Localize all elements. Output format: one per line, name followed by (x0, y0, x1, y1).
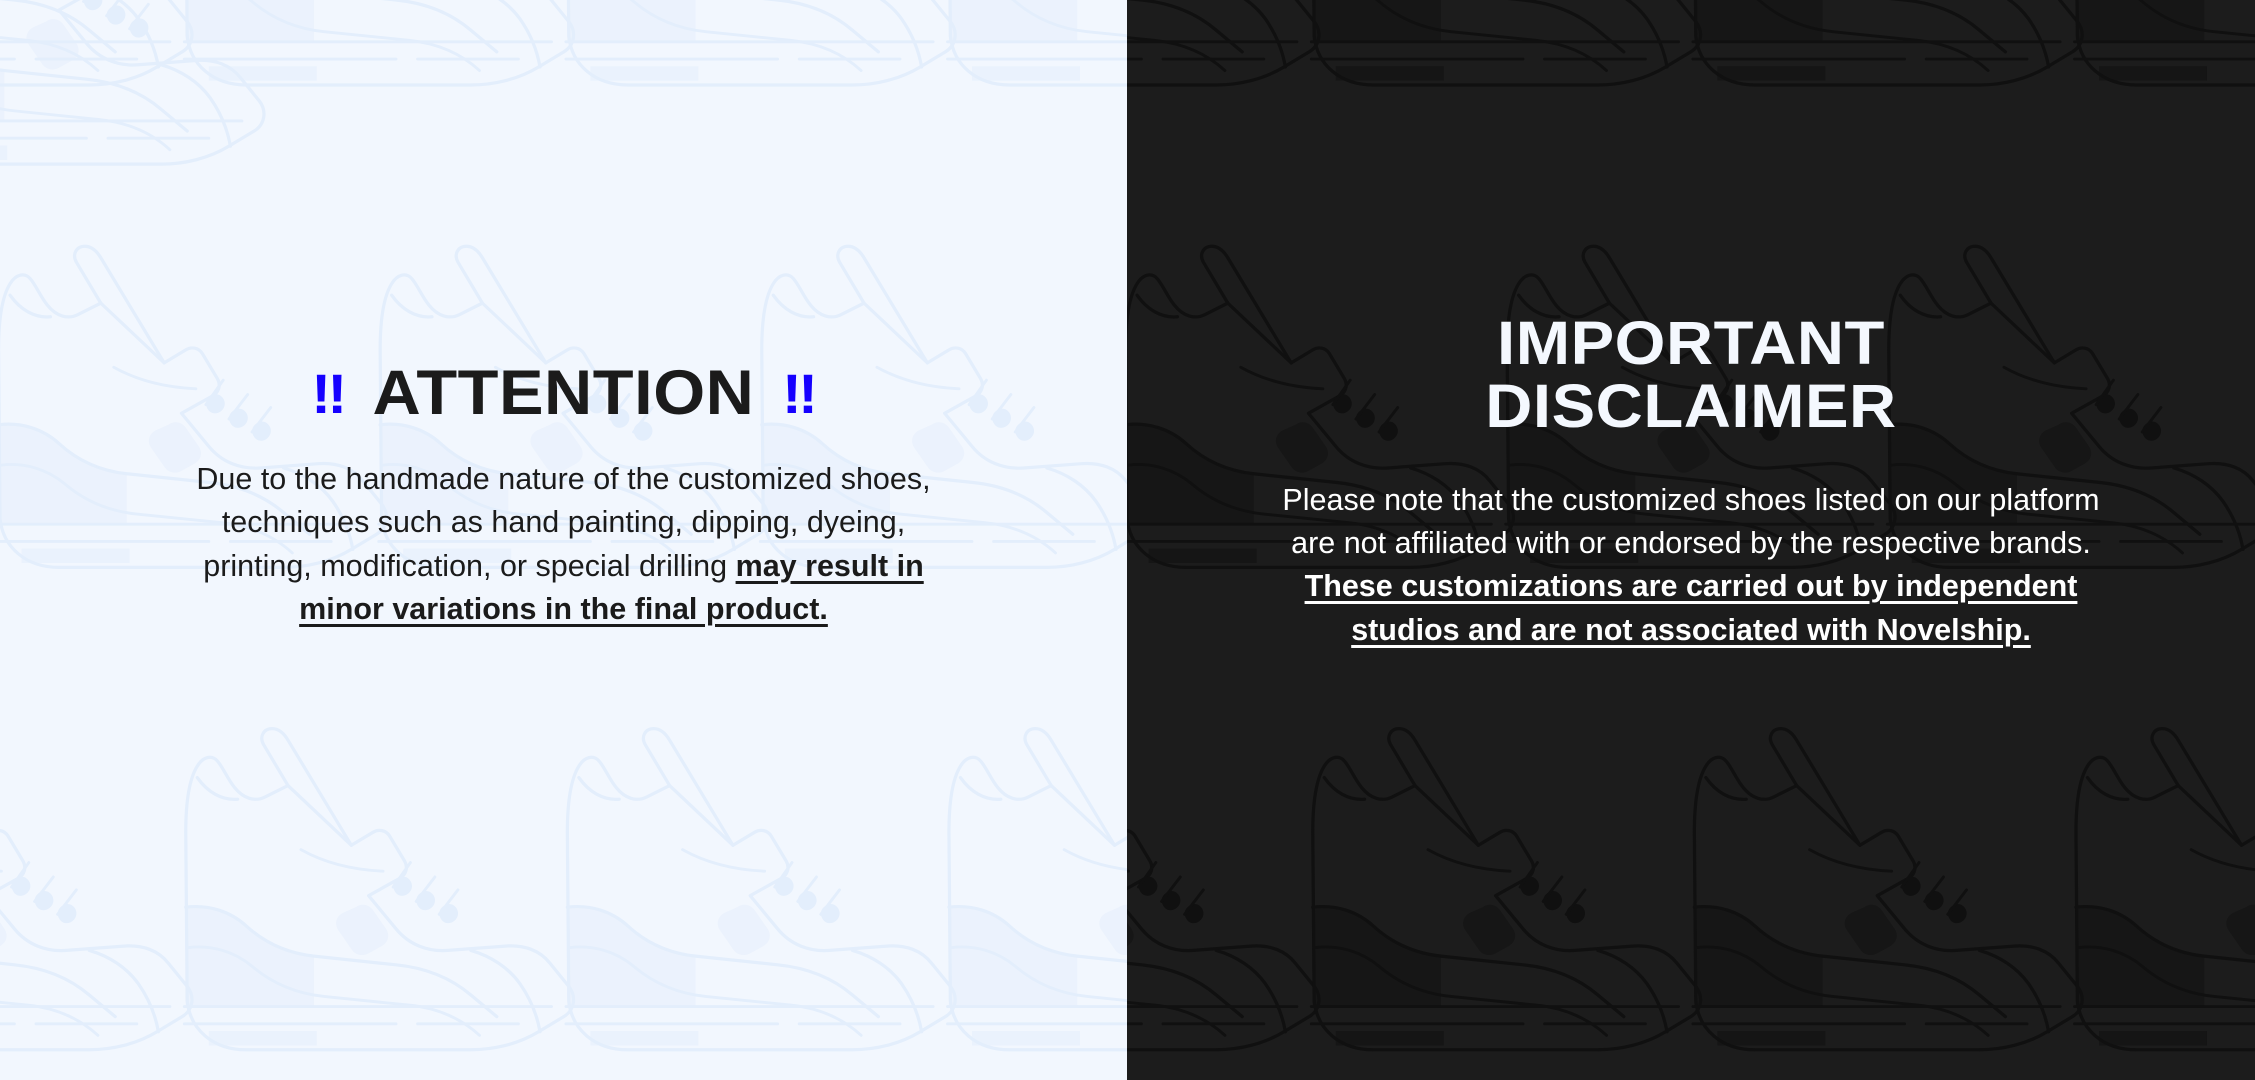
double-exclamation-right-icon: ‼ (782, 366, 816, 422)
disclaimer-headline-line-2: DISCLAIMER (1127, 375, 2255, 438)
disclaimer-body: Please note that the customized shoes li… (1281, 479, 2101, 652)
disclaimer-body-emphasis: These customizations are carried out by … (1305, 569, 2078, 646)
disclaimer-body-normal: Please note that the customized shoes li… (1282, 483, 2099, 560)
disclaimer-panel: IMPORTANT DISCLAIMER Please note that th… (1127, 0, 2255, 1080)
disclaimer-content: IMPORTANT DISCLAIMER Please note that th… (1127, 0, 2255, 652)
attention-body: Due to the handmade nature of the custom… (179, 458, 949, 631)
attention-headline-text: ATTENTION (373, 362, 755, 425)
disclaimer-headline-line-1: IMPORTANT (1127, 312, 2255, 375)
attention-content: ‼ ATTENTION ‼ Due to the handmade nature… (0, 0, 1127, 631)
split-banner: ‼ ATTENTION ‼ Due to the handmade nature… (0, 0, 2255, 1080)
attention-panel: ‼ ATTENTION ‼ Due to the handmade nature… (0, 0, 1127, 1080)
double-exclamation-left-icon: ‼ (311, 366, 345, 422)
attention-headline: ‼ ATTENTION ‼ (0, 362, 1127, 425)
disclaimer-headline: IMPORTANT DISCLAIMER (1127, 312, 2255, 439)
